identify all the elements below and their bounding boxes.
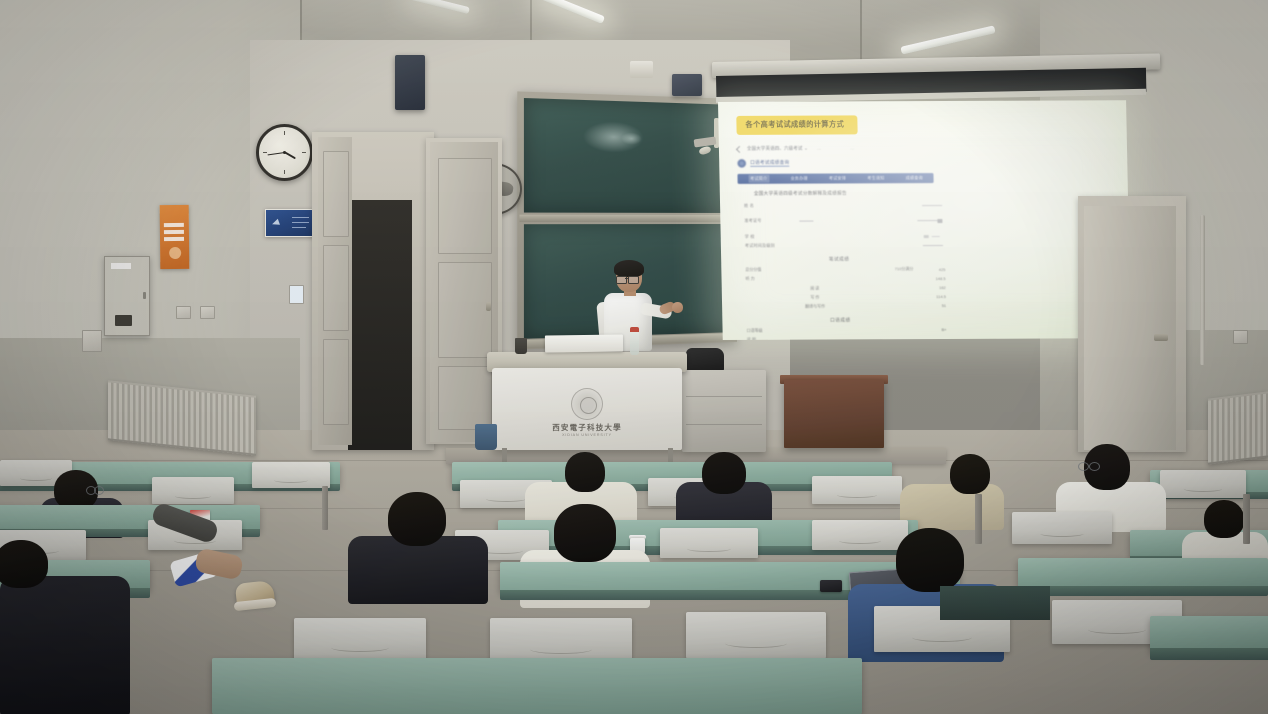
chevron-left-icon[interactable] bbox=[736, 145, 743, 152]
glasses-bridge bbox=[625, 278, 629, 279]
form-row: 准考证号 bbox=[744, 211, 942, 230]
wall-clock bbox=[256, 124, 313, 181]
nav-item-1[interactable]: 业务办理 bbox=[790, 176, 807, 182]
cell-value: 162 bbox=[924, 285, 946, 290]
desk-edge bbox=[1150, 648, 1268, 660]
form-value bbox=[923, 243, 943, 248]
bottle-cap bbox=[630, 327, 639, 332]
equipment-cabinet bbox=[682, 370, 766, 452]
site-header: 口语考试成绩查询 bbox=[737, 157, 1117, 168]
seat-r1-7 bbox=[1160, 470, 1246, 498]
table-row: 听 力 148.5 bbox=[746, 275, 946, 282]
papers-on-podium bbox=[545, 334, 623, 352]
torso bbox=[348, 536, 488, 604]
water-bottle bbox=[630, 331, 639, 355]
cell-note: 710分满分 bbox=[837, 266, 923, 272]
student-dark-center bbox=[676, 452, 772, 524]
site-name[interactable]: 口语考试成绩查询 bbox=[750, 159, 789, 167]
head bbox=[0, 540, 48, 588]
desk-row3-right bbox=[1018, 558, 1268, 588]
seat-r1-2 bbox=[152, 477, 234, 504]
head bbox=[554, 504, 616, 562]
electrical-distribution-panel[interactable] bbox=[104, 256, 150, 336]
cell-mid: 写 作 bbox=[792, 294, 838, 300]
desk-leg bbox=[975, 494, 982, 544]
radiator-right bbox=[1208, 391, 1268, 464]
head bbox=[950, 454, 990, 494]
form-value bbox=[922, 203, 942, 208]
site-seal-icon bbox=[737, 159, 746, 168]
cell-label: 说 明 bbox=[747, 337, 793, 340]
panel-latch[interactable] bbox=[143, 292, 146, 299]
head bbox=[702, 452, 746, 494]
head bbox=[388, 492, 446, 546]
torso bbox=[0, 576, 130, 714]
form-label: 考试时间及级别 bbox=[745, 243, 797, 249]
cell-mid: 阅 读 bbox=[792, 285, 838, 291]
wall-outlet-left2[interactable] bbox=[200, 306, 215, 319]
form-label: 学 校 bbox=[745, 233, 797, 239]
cell-value: 114.5 bbox=[924, 294, 946, 299]
blue-evacuation-sign bbox=[265, 209, 315, 237]
table-row: 写 作 114.5 bbox=[746, 294, 946, 301]
score-table-笔试: 总分分值 710分满分 425 听 力 148.5 阅 读 162 bbox=[745, 266, 946, 310]
eyeglasses-icon bbox=[86, 486, 104, 494]
eyeglasses-icon bbox=[1078, 462, 1100, 470]
door-back-center[interactable] bbox=[430, 142, 498, 442]
dark-cup bbox=[515, 338, 527, 354]
page-caption: 全国大学英语四级考试分数解释及成绩报告 bbox=[754, 189, 1118, 197]
nav-item-4[interactable]: 成绩查询 bbox=[906, 175, 923, 181]
form-row: 姓 名 bbox=[744, 202, 942, 209]
door-back-left[interactable] bbox=[318, 137, 352, 445]
ceiling-speaker bbox=[395, 55, 425, 110]
wall-outlet-right[interactable] bbox=[1233, 330, 1248, 344]
table-row: 翻译与写作 51 bbox=[746, 303, 946, 310]
black-bag bbox=[686, 348, 724, 372]
desk-leg bbox=[1243, 494, 1250, 544]
lectern: 西安電子科技大學 XIDIAN UNIVERSITY bbox=[492, 368, 682, 450]
ellipsis-icon[interactable]: ··· bbox=[817, 146, 821, 151]
wall-pipe-right bbox=[1200, 215, 1205, 365]
student-khaki bbox=[900, 452, 1004, 526]
site-navbar[interactable]: 考试简介 业务办理 考试安排 考生须知 成绩查询 bbox=[737, 173, 933, 184]
section-two-title: 口语成绩 bbox=[740, 317, 940, 324]
head bbox=[565, 452, 605, 492]
instructor-hair bbox=[614, 260, 644, 277]
panel-label bbox=[111, 263, 131, 269]
desk-leg bbox=[322, 486, 328, 530]
cell-value: 51 bbox=[924, 303, 946, 308]
table-row: 说 明 — bbox=[747, 336, 947, 340]
desk-underside bbox=[940, 586, 1050, 620]
projected-slide: 各个高考试试成绩的计算方式 全国大学英语四、六级考试 ⌄ ··· ··· 口语考… bbox=[718, 100, 1131, 340]
cell-mid: 翻译与写作 bbox=[792, 303, 838, 309]
desk-row4-front bbox=[212, 658, 862, 714]
seat-r1-3 bbox=[252, 462, 330, 488]
seat-r1-6 bbox=[812, 476, 902, 504]
cell-label: 听 力 bbox=[746, 276, 792, 282]
browser-tab-text: 全国大学英语四、六级考试 ⌄ bbox=[747, 146, 808, 152]
door-right[interactable] bbox=[1084, 206, 1176, 450]
cell-value: 425 bbox=[923, 267, 945, 272]
cell-value: B+ bbox=[925, 327, 947, 332]
slide-title: 各个高考试试成绩的计算方式 bbox=[736, 115, 857, 135]
phone-right-desk bbox=[820, 580, 842, 592]
door-opening-dark bbox=[348, 200, 412, 450]
nav-item-2[interactable]: 考试安排 bbox=[829, 175, 846, 181]
seat-r4-3 bbox=[686, 612, 826, 658]
form-value bbox=[917, 218, 942, 223]
student-black-shirt bbox=[348, 492, 488, 602]
eyeglasses-icon bbox=[628, 276, 639, 284]
table-row: 口语等级 B+ bbox=[747, 327, 947, 334]
candidate-form: 姓 名 准考证号 学 校 考试时间及级别 bbox=[744, 202, 943, 249]
university-name-en: XIDIAN UNIVERSITY bbox=[562, 433, 612, 437]
wooden-table bbox=[784, 380, 884, 448]
table-row: 总分分值 710分满分 425 bbox=[745, 266, 945, 273]
section-one-title: 笔试成绩 bbox=[739, 256, 939, 263]
score-table-口语: 口语等级 B+ 说 明 — bbox=[747, 327, 947, 340]
university-name-cn: 西安電子科技大學 bbox=[552, 422, 622, 433]
trash-bin bbox=[475, 424, 497, 450]
seat-r2-4 bbox=[660, 528, 758, 558]
cell-value: — bbox=[925, 337, 947, 340]
form-row: 考试时间及级别 bbox=[745, 242, 943, 249]
form-row: 学 校 bbox=[745, 233, 943, 240]
form-value bbox=[924, 233, 943, 238]
nav-item-0[interactable]: 考试简介 bbox=[748, 175, 769, 183]
head bbox=[1204, 500, 1244, 538]
seat-r2-6 bbox=[1012, 512, 1112, 544]
ceiling-speaker-2 bbox=[672, 74, 702, 96]
cell-value: 148.5 bbox=[924, 276, 946, 281]
seat-r4-1 bbox=[294, 618, 426, 662]
desk-edge bbox=[1018, 586, 1268, 596]
instructor-right-hand bbox=[672, 302, 683, 313]
orange-safety-poster bbox=[160, 205, 190, 269]
form-label: 准考证号 bbox=[744, 218, 796, 224]
desk-row4-right bbox=[1150, 616, 1268, 652]
university-seal-icon bbox=[571, 388, 603, 420]
projection-screen[interactable]: 各个高考试试成绩的计算方式 全国大学英语四、六级考试 ⌄ ··· ··· 口语考… bbox=[718, 100, 1131, 340]
cell-label: 口语等级 bbox=[747, 328, 793, 334]
head bbox=[896, 528, 964, 592]
panel-vent bbox=[115, 315, 132, 326]
table-row: 阅 读 162 bbox=[746, 285, 946, 292]
wall-switch-left[interactable] bbox=[82, 330, 102, 352]
browser-tail: ··· bbox=[850, 146, 854, 151]
classroom-scene: 各个高考试试成绩的计算方式 全国大学英语四、六级考试 ⌄ ··· ··· 口语考… bbox=[0, 0, 1268, 714]
wall-notice-door bbox=[289, 285, 304, 304]
wall-outlet-left[interactable] bbox=[176, 306, 191, 319]
browser-bar: 全国大学英语四、六级考试 ⌄ ··· ··· bbox=[737, 144, 1117, 152]
form-label: 姓 名 bbox=[744, 203, 796, 209]
student-left-front bbox=[0, 540, 130, 714]
nav-item-3[interactable]: 考生须知 bbox=[867, 175, 884, 181]
motion-sensor bbox=[630, 61, 653, 78]
cell-label: 总分分值 bbox=[745, 267, 791, 273]
